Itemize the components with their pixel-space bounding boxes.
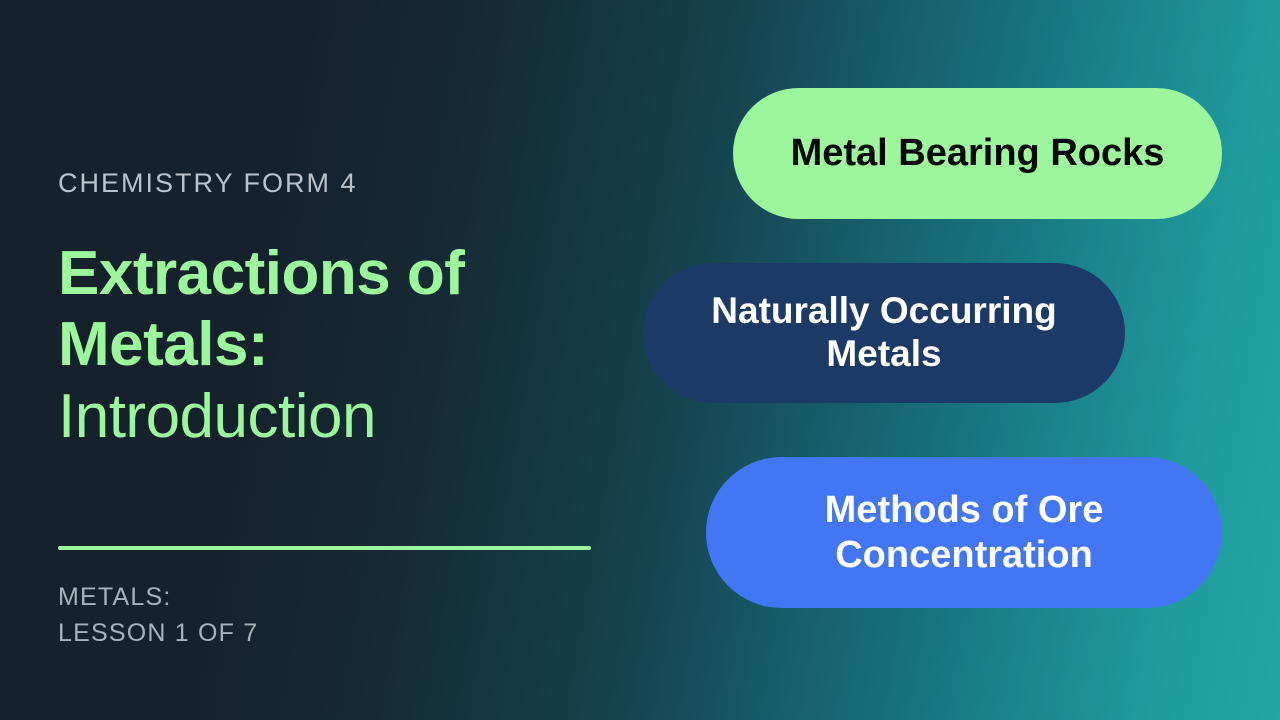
topic-pill-label: Metal Bearing Rocks [791,131,1165,175]
topic-pill-metal-bearing-rocks[interactable]: Metal Bearing Rocks [733,88,1222,219]
page-title: Extractions of Metals: Introduction [58,238,618,452]
course-eyebrow-label: CHEMISTRY FORM 4 [58,168,358,199]
slide-canvas: CHEMISTRY FORM 4 Extractions of Metals: … [0,0,1280,720]
title-line-2: Metals: [58,309,618,380]
left-content-column: CHEMISTRY FORM 4 Extractions of Metals: … [58,0,618,720]
topic-pill-methods-of-ore-concentration[interactable]: Methods of Ore Concentration [706,457,1222,608]
lesson-meta: METALS: LESSON 1 OF 7 [58,580,258,651]
title-divider-rule [58,546,591,550]
topic-pill-label: Methods of Ore Concentration [732,488,1196,576]
lesson-meta-line-1: METALS: [58,580,258,616]
topic-pill-label: Naturally Occurring Metals [669,290,1099,376]
topic-pill-naturally-occurring-metals[interactable]: Naturally Occurring Metals [643,263,1125,403]
lesson-meta-line-2: LESSON 1 OF 7 [58,616,258,652]
title-line-3: Introduction [58,381,618,452]
title-line-1: Extractions of [58,238,618,309]
